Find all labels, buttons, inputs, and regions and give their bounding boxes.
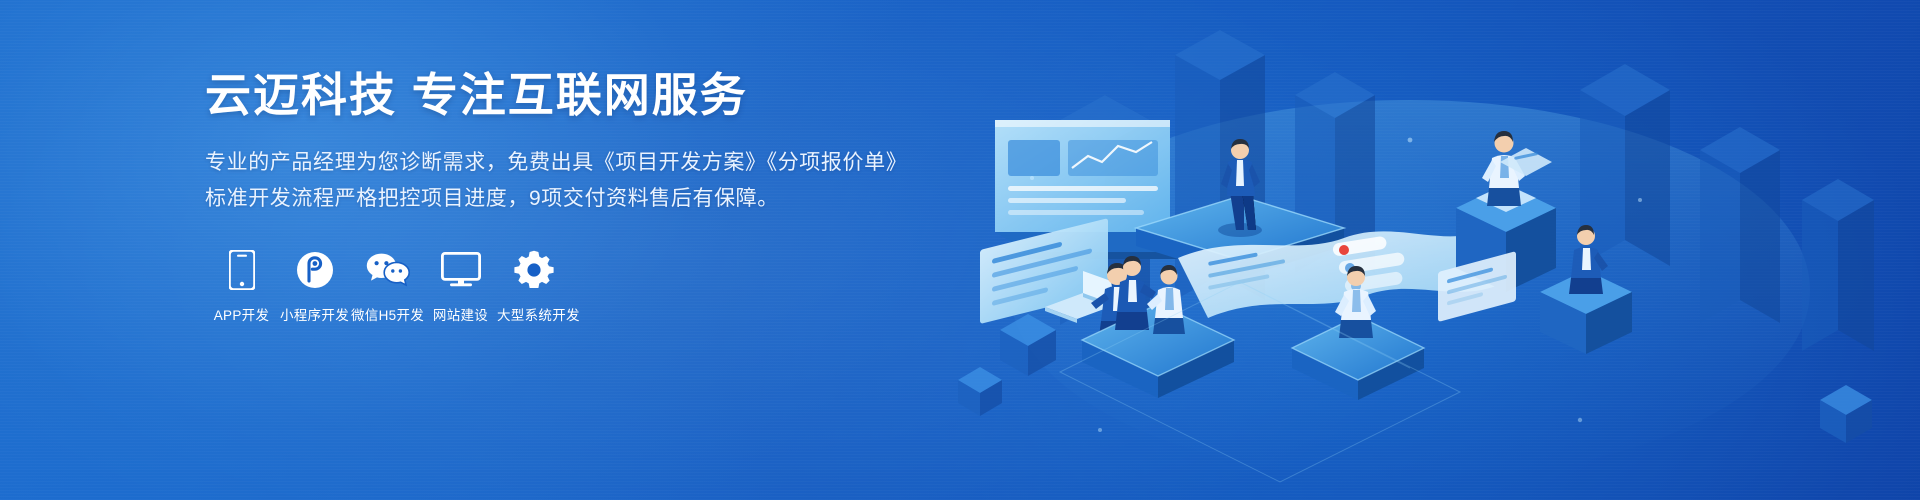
service-label-website: 网站建设 bbox=[424, 304, 497, 324]
service-item-miniprogram[interactable]: 小程序开发 bbox=[278, 247, 351, 324]
service-label-wechat-h5: 微信H5开发 bbox=[351, 304, 424, 324]
monitor-icon bbox=[424, 247, 497, 293]
wechat-chat-icon bbox=[351, 247, 424, 293]
subtitle-line-1: 专业的产品经理为您诊断需求，免费出具《项目开发方案》《分项报价单》 bbox=[205, 145, 925, 181]
service-label-large-system: 大型系统开发 bbox=[497, 304, 570, 324]
hero-banner: 云迈科技 专注互联网服务 专业的产品经理为您诊断需求，免费出具《项目开发方案》《… bbox=[0, 0, 1920, 500]
service-item-wechat-h5[interactable]: 微信H5开发 bbox=[351, 247, 424, 324]
mini-program-icon bbox=[278, 247, 351, 293]
service-item-app[interactable]: APP开发 bbox=[205, 247, 278, 324]
isometric-tech-team-illustration bbox=[940, 0, 1920, 500]
mobile-phone-icon bbox=[205, 247, 278, 293]
service-list: APP开发 小程序开发 bbox=[205, 247, 925, 324]
service-item-large-system[interactable]: 大型系统开发 bbox=[497, 247, 570, 324]
gear-icon bbox=[497, 247, 570, 293]
service-label-app: APP开发 bbox=[205, 304, 278, 324]
service-item-website[interactable]: 网站建设 bbox=[424, 247, 497, 324]
banner-content: 云迈科技 专注互联网服务 专业的产品经理为您诊断需求，免费出具《项目开发方案》《… bbox=[205, 68, 925, 324]
page-title: 云迈科技 专注互联网服务 bbox=[205, 68, 925, 123]
banner-subtitle: 专业的产品经理为您诊断需求，免费出具《项目开发方案》《分项报价单》 标准开发流程… bbox=[205, 145, 925, 217]
subtitle-line-2: 标准开发流程严格把控项目进度，9项交付资料售后有保障。 bbox=[205, 181, 925, 217]
service-label-miniprogram: 小程序开发 bbox=[278, 304, 351, 324]
